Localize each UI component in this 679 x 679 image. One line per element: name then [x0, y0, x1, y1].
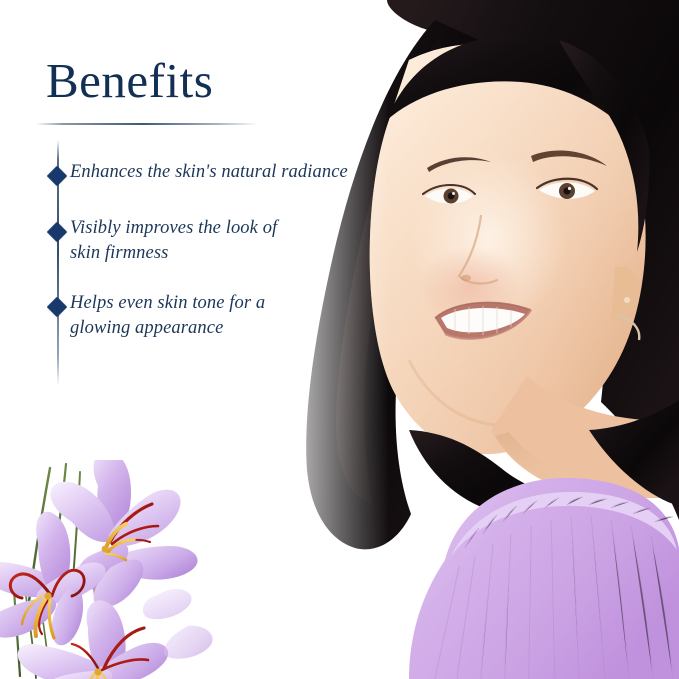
benefit-text: Helps even skin tone for a glowing appea…	[70, 291, 400, 340]
benefits-text-panel: Benefits Enhances the skin's natural rad…	[0, 0, 400, 430]
page-title: Benefits	[46, 56, 213, 105]
benefit-list: Enhances the skin's natural radiance Vis…	[0, 160, 400, 366]
diamond-bullet-icon	[47, 297, 67, 317]
diamond-bullet-icon	[47, 222, 67, 242]
list-item: Visibly improves the look of skin firmne…	[0, 216, 400, 265]
diamond-bullet-icon	[47, 166, 67, 186]
benefit-text: Enhances the skin's natural radiance	[70, 160, 400, 185]
benefit-text: Visibly improves the look of skin firmne…	[70, 216, 400, 265]
list-item: Enhances the skin's natural radiance	[0, 160, 400, 190]
benefits-infographic: Benefits Enhances the skin's natural rad…	[0, 0, 679, 679]
list-item: Helps even skin tone for a glowing appea…	[0, 291, 400, 340]
title-divider-rule	[36, 123, 258, 125]
saffron-crocus-flowers	[0, 450, 262, 679]
